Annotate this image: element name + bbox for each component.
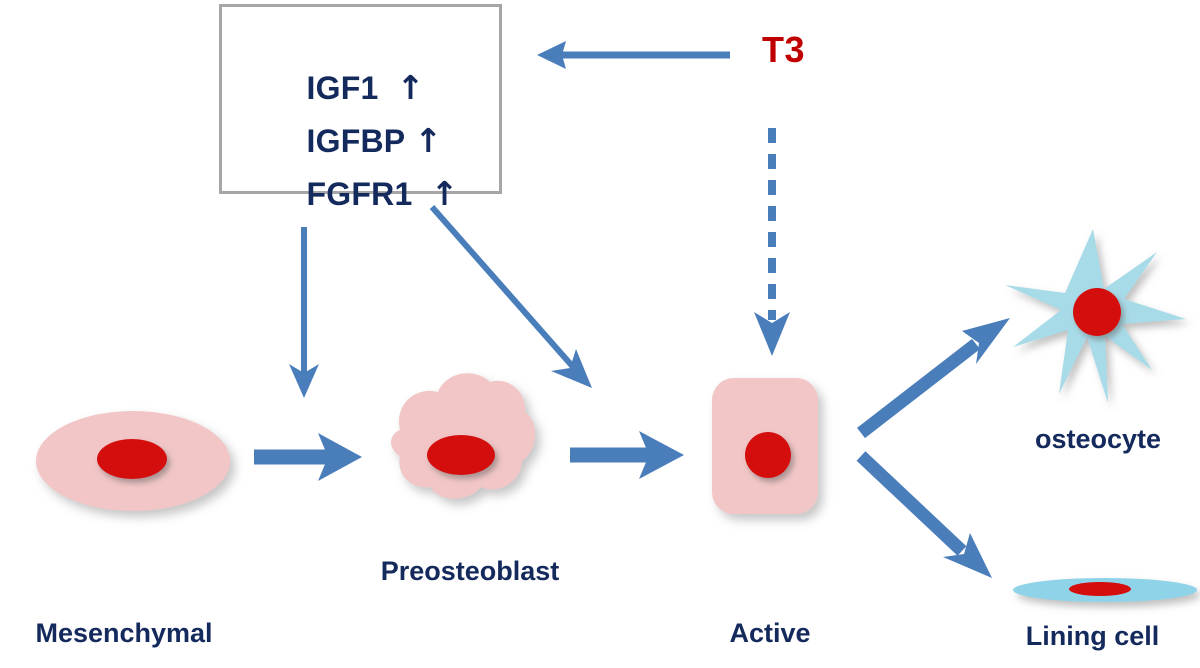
arrow-active-osteoblast-to-osteocyte — [861, 318, 1010, 433]
nucleus-osteocyte — [1073, 288, 1121, 336]
arrow-t3-to-gene-box — [537, 41, 730, 69]
cell-label-mesenchymal-progenitor: Mesenchymal progenitor cell — [4, 556, 244, 668]
diagram-canvas: IGF1 ↑ IGFBP ↑ FGFR1 ↑ T3 Mesenchymal pr… — [0, 0, 1200, 668]
gene-label-fgfr1: FGFR1 — [307, 176, 413, 212]
up-arrow-icon: ↑ — [431, 174, 459, 213]
cell-active-osteoblast — [712, 378, 818, 514]
arrow-gene-box-to-mesenchymal — [289, 227, 319, 398]
cell-osteocyte — [1005, 229, 1186, 403]
cell-lining — [1013, 578, 1197, 602]
nucleus-lining — [1069, 582, 1131, 596]
arrow-preosteoblast-to-active-osteoblast — [570, 431, 684, 479]
cell-preosteoblast — [391, 373, 535, 498]
regulated-genes-box: IGF1 ↑ IGFBP ↑ FGFR1 ↑ — [219, 4, 502, 194]
hormone-label-t3: T3 — [762, 29, 805, 70]
nucleus-mesenchymal — [97, 439, 167, 479]
cell-label-line-1: Active — [655, 618, 885, 649]
cell-label-line-1: Mesenchymal — [4, 618, 244, 649]
nucleus-preosteoblast — [427, 435, 495, 475]
gene-row-fgfr1: FGFR1 ↑ — [252, 137, 458, 250]
cell-label-lining-cell: Lining cell — [990, 621, 1195, 652]
cell-mesenchymal-progenitor — [36, 411, 230, 511]
cell-label-osteocyte: osteocyte — [1000, 424, 1196, 455]
cell-label-preosteoblast: Preosteoblast — [330, 556, 610, 587]
nucleus-active-osteoblast — [745, 432, 791, 478]
arrow-mesenchymal-to-preosteoblast — [254, 433, 362, 481]
cell-label-active-osteoblast: Active osteoblast — [655, 556, 885, 668]
arrow-t3-to-active-osteoblast — [754, 128, 790, 356]
